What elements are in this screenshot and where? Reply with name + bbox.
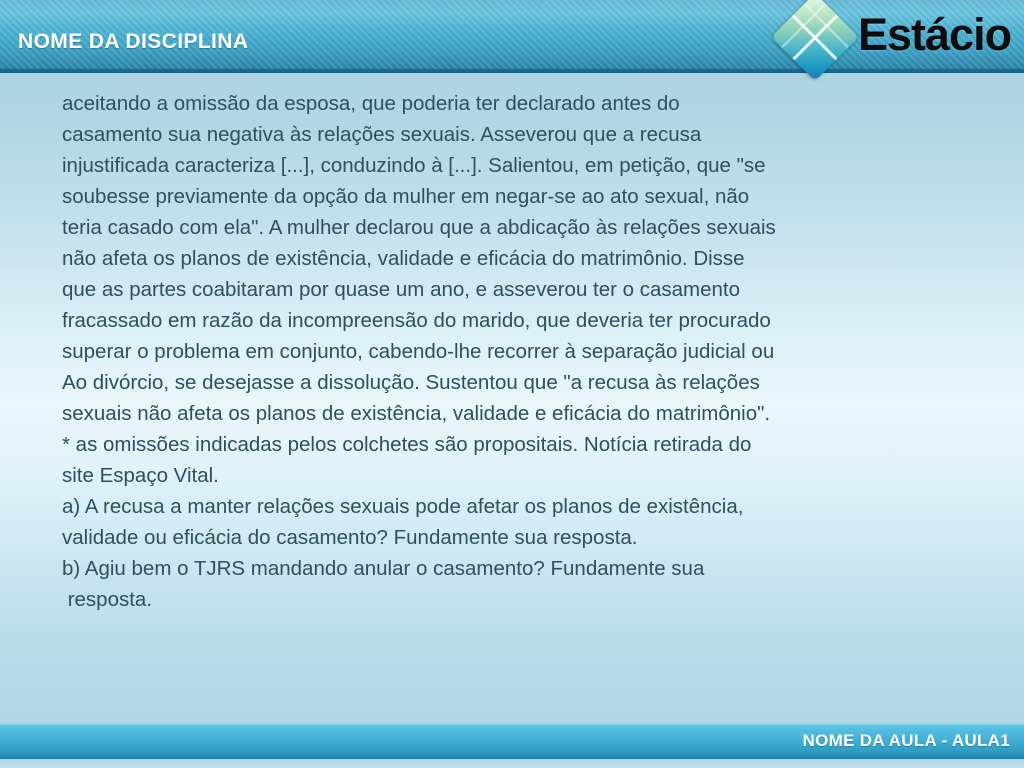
content-line: soubesse previamente da opção da mulher … (62, 181, 982, 212)
footer-top-edge (0, 723, 1024, 725)
estacio-logo: Estácio (776, 2, 1016, 72)
estacio-diamond-icon (771, 0, 859, 81)
content-line: Ao divórcio, se desejasse a dissolução. … (62, 367, 982, 398)
content-line: não afeta os planos de existência, valid… (62, 243, 982, 274)
slide-content: aceitando a omissão da esposa, que poder… (62, 88, 982, 615)
footer-title: NOME DA AULA - AULA1 (803, 731, 1010, 751)
content-line: superar o problema em conjunto, cabendo-… (62, 336, 982, 367)
content-line: a) A recusa a manter relações sexuais po… (62, 491, 982, 522)
page-title: NOME DA DISCIPLINA (18, 30, 248, 54)
slide-footer: NOME DA AULA - AULA1 (0, 723, 1024, 759)
content-line: validade ou eficácia do casamento? Funda… (62, 522, 982, 553)
content-line: site Espaço Vital. (62, 460, 982, 491)
content-line: resposta. (62, 584, 982, 615)
content-line: fracassado em razão da incompreensão do … (62, 305, 982, 336)
content-line: que as partes coabitaram por quase um an… (62, 274, 982, 305)
footer-bottom-strip (0, 759, 1024, 768)
estacio-wordmark: Estácio (858, 6, 1011, 64)
content-line: teria casado com ela". A mulher declarou… (62, 212, 982, 243)
slide: NOME DA DISCIPLINA Estácio aceitando a o… (0, 0, 1024, 768)
content-line: sexuais não afeta os planos de existênci… (62, 398, 982, 429)
content-line: * as omissões indicadas pelos colchetes … (62, 429, 982, 460)
content-line: casamento sua negativa às relações sexua… (62, 119, 982, 150)
content-line: injustificada caracteriza [...], conduzi… (62, 150, 982, 181)
content-line: b) Agiu bem o TJRS mandando anular o cas… (62, 553, 982, 584)
content-line: aceitando a omissão da esposa, que poder… (62, 88, 982, 119)
